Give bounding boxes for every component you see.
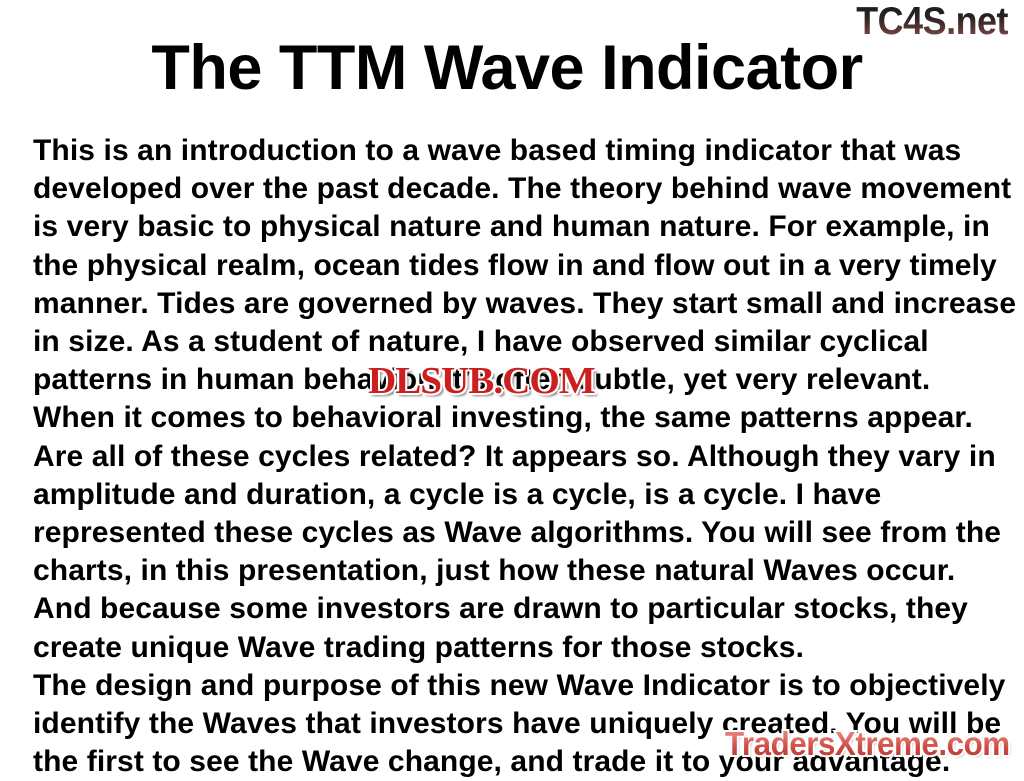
body-line: is very basic to physical nature and hum… [33, 208, 1003, 246]
body-line: This is an introduction to a wave based … [33, 132, 1003, 170]
body-line: developed over the past decade. The theo… [33, 170, 1003, 208]
body-line: The design and purpose of this new Wave … [33, 667, 1003, 705]
footer-logo-fill: TradersXtreme.com [725, 727, 1010, 760]
body-text-block: This is an introduction to a wave based … [33, 132, 1003, 781]
body-line: represented these cycles as Wave algorit… [33, 514, 1003, 552]
presentation-slide: TC4S.net The TTM Wave Indicator This is … [0, 0, 1024, 768]
body-line: amplitude and duration, a cycle is a cyc… [33, 476, 1003, 514]
page-title: The TTM Wave Indicator [0, 36, 1024, 100]
body-line: When it comes to behavioral investing, t… [33, 399, 1003, 437]
body-line: the physical realm, ocean tides flow in … [33, 247, 1003, 285]
body-line: charts, in this presentation, just how t… [33, 552, 1003, 590]
body-line: patterns in human behavior. It’s often s… [33, 361, 1003, 399]
body-line: in size. As a student of nature, I have … [33, 323, 1003, 361]
body-line: And because some investors are drawn to … [33, 590, 1003, 628]
body-line: manner. Tides are governed by waves. The… [33, 285, 1003, 323]
tradersxtreme-footer-logo: TradersXtreme.com TradersXtreme.com [725, 727, 1010, 760]
body-line: Are all of these cycles related? It appe… [33, 438, 1003, 476]
body-line: create unique Wave trading patterns for … [33, 629, 1003, 667]
